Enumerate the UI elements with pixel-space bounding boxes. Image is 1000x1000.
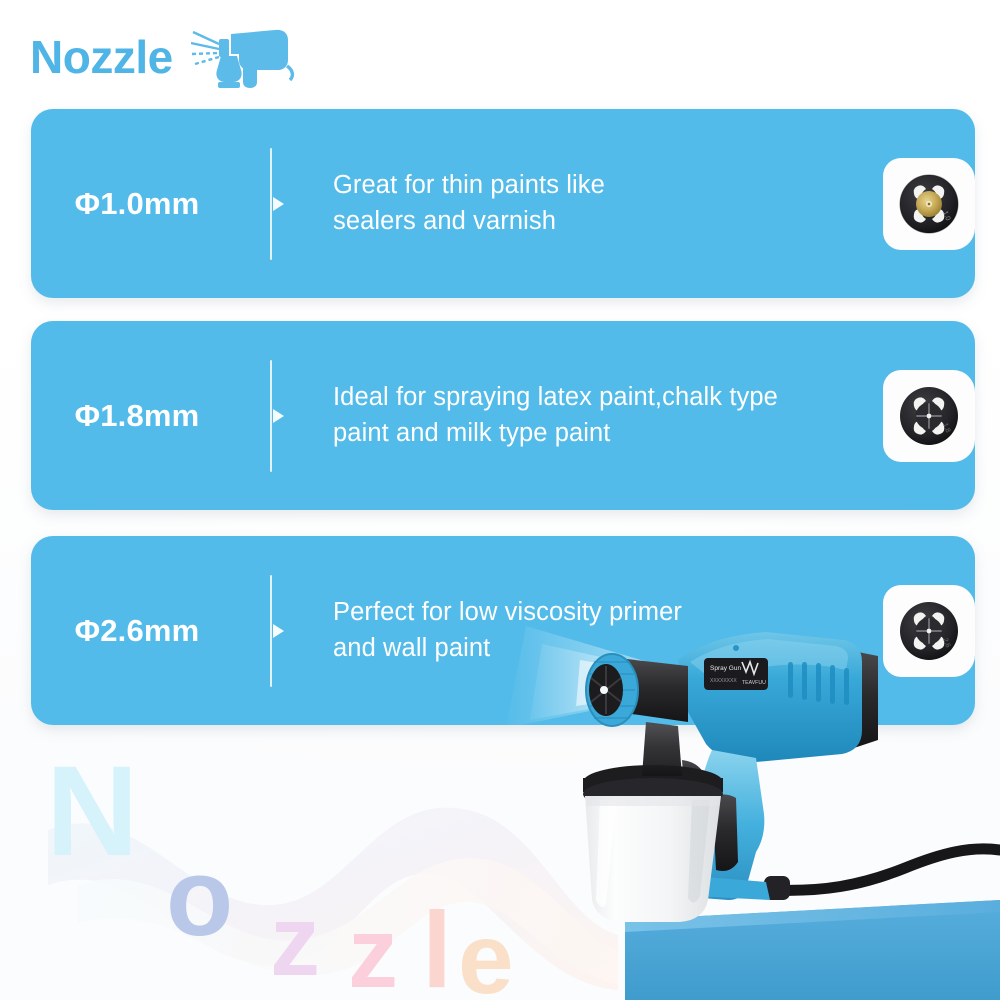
card-divider	[243, 148, 299, 260]
card-divider	[243, 575, 299, 687]
nozzle-1-8mm-icon: 1.8	[893, 380, 965, 452]
nozzle-size-label: Φ1.0mm	[31, 186, 243, 222]
nozzle-description: Perfect for low viscosity primer and wal…	[299, 595, 975, 665]
nozzle-2-6mm-icon: 2.6	[893, 595, 965, 667]
nozzle-card-1-8mm[interactable]: Φ1.8mm Ideal for spraying latex paint,ch…	[31, 321, 975, 510]
nozzle-badge: 1.8	[883, 370, 975, 462]
nozzle-size-label: Φ1.8mm	[31, 398, 243, 434]
nozzle-size-label: Φ2.6mm	[31, 613, 243, 649]
nozzle-badge: 1.0	[883, 158, 975, 250]
nozzle-description: Ideal for spraying latex paint,chalk typ…	[299, 380, 975, 450]
spray-gun-icon	[191, 26, 295, 92]
nozzle-1-0mm-icon: 1.0	[893, 168, 965, 240]
infographic-page: N o z z l e Nozzle	[0, 0, 1000, 1000]
arrow-right-icon	[273, 197, 284, 211]
page-header: Nozzle	[30, 22, 295, 92]
nozzle-card-2-6mm[interactable]: Φ2.6mm Perfect for low viscosity primer …	[31, 536, 975, 725]
nozzle-description: Great for thin paints like sealers and v…	[299, 168, 975, 238]
arrow-right-icon	[273, 409, 284, 423]
nozzle-badge: 2.6	[883, 585, 975, 677]
arrow-right-icon	[273, 624, 284, 638]
nozzle-card-1-0mm[interactable]: Φ1.0mm Great for thin paints like sealer…	[31, 109, 975, 298]
card-divider	[243, 360, 299, 472]
page-title: Nozzle	[30, 34, 173, 80]
